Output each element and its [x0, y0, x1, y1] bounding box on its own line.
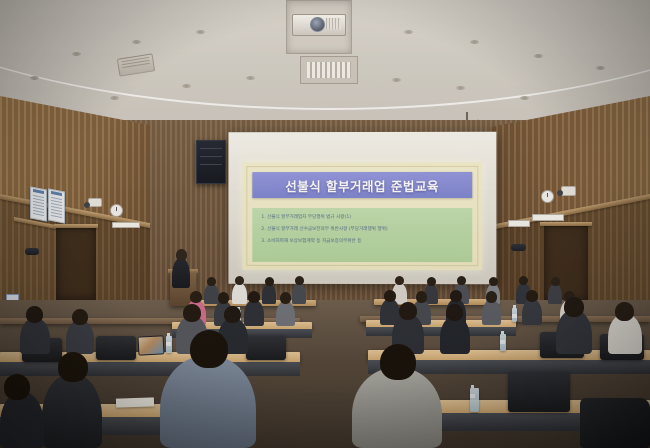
audience-head	[551, 277, 560, 286]
chair	[508, 372, 570, 412]
audience-head	[564, 297, 584, 317]
audience-head	[280, 292, 291, 304]
wall-vent-strip	[532, 214, 564, 221]
downlight-icon	[132, 40, 141, 44]
projection-screen: 선불식 할부거래업 준법교육 1. 선불식 할부거래업자 부당행위 법규 사항(…	[228, 132, 496, 284]
water-bottle	[166, 336, 172, 353]
audience-head	[399, 302, 417, 320]
downlight-icon	[534, 54, 543, 58]
audience-head	[248, 291, 260, 303]
audience-head	[4, 374, 30, 400]
downlight-icon	[30, 76, 39, 80]
audience-head	[190, 330, 228, 368]
audience-head	[526, 290, 538, 302]
left-doorway-recess	[56, 226, 96, 300]
audience-head	[190, 291, 202, 303]
audience-member	[232, 283, 247, 304]
slide-title: 선불식 할부거래업 준법교육	[285, 175, 439, 194]
left-wall-speaker	[196, 140, 226, 184]
downlight-icon	[392, 78, 401, 82]
lecture-hall-photo: 선불식 할부거래업 준법교육 1. 선불식 할부거래업자 부당행위 법규 사항(…	[0, 0, 650, 448]
audience-member	[482, 300, 501, 325]
wall-camera-icon	[561, 186, 576, 196]
bag-on-desk	[580, 398, 650, 448]
audience-head	[58, 352, 88, 382]
presenter-head	[176, 249, 187, 261]
slide-content-box: 1. 선불식 할부거래업자 부당행위 법규 사항(1) 2. 선불식 할부거래 …	[252, 208, 472, 262]
audience-head	[384, 290, 396, 302]
audience-head	[295, 276, 304, 285]
downlight-icon	[110, 96, 119, 100]
handout-papers	[116, 397, 154, 407]
audience-head	[235, 276, 244, 285]
desk-front-panel	[0, 362, 300, 376]
audience-member	[66, 320, 94, 354]
tablet-device[interactable]	[138, 335, 165, 355]
wall-mounted-ac-unit	[511, 244, 526, 251]
wall-vent-strip	[508, 220, 530, 227]
audience-member-foreground	[42, 374, 102, 448]
downlight-icon	[456, 86, 465, 90]
audience-head	[265, 277, 274, 286]
audience-member	[204, 284, 219, 304]
wall-clock-icon	[541, 190, 554, 203]
audience-member	[292, 283, 306, 304]
downlight-icon	[72, 52, 81, 56]
slide-bullet: 2. 선불식 할부거래 선수금보전의무 위반사항 (부당거래행위 행위)	[261, 227, 463, 233]
left-doorway-header	[54, 224, 98, 228]
audience-member	[440, 316, 470, 354]
audience-head	[183, 304, 201, 322]
projector-lens-icon	[310, 17, 325, 32]
audience-member	[262, 284, 276, 304]
audience-member	[522, 299, 542, 325]
downlight-icon	[470, 40, 479, 44]
presenter-body	[172, 258, 190, 288]
audience-head	[380, 344, 416, 380]
downlight-icon	[196, 30, 205, 34]
wall-notice-poster	[30, 186, 47, 221]
slide-title-bar: 선불식 할부거래업 준법교육	[252, 172, 472, 198]
projector-vent-grille	[326, 18, 341, 29]
audience-member-foreground	[352, 368, 442, 448]
chair	[96, 336, 136, 360]
slide-bullet: 3. 소비자피해 보상보험계약 등 지급보증의무위반 등	[261, 239, 463, 245]
wall-camera-icon	[88, 198, 102, 207]
downlight-icon	[404, 30, 413, 34]
chair	[246, 336, 286, 360]
audience-head	[427, 277, 436, 286]
downlight-icon	[182, 84, 191, 88]
water-bottle	[470, 388, 479, 412]
audience-head	[615, 302, 634, 321]
audience-head	[224, 306, 241, 323]
slide-bullet: 1. 선불식 할부거래업자 부당행위 법규 사항(1)	[261, 215, 463, 221]
audience-head	[218, 292, 229, 304]
audience-member	[20, 318, 50, 354]
right-doorway-header	[540, 222, 592, 226]
audience-head	[486, 291, 497, 303]
wall-clock-icon	[110, 204, 123, 217]
audience-head	[72, 309, 88, 325]
downlight-icon	[520, 96, 529, 100]
water-bottle	[512, 308, 517, 322]
presentation-slide: 선불식 할부거래업 준법교육 1. 선불식 할부거래업자 부당행위 법규 사항(…	[242, 162, 482, 270]
water-bottle	[500, 334, 506, 351]
audience-head	[457, 276, 466, 285]
audience-head	[489, 277, 498, 286]
audience-member	[276, 301, 295, 326]
audience-head	[395, 276, 404, 285]
audience-member-foreground	[0, 392, 44, 448]
downlight-icon	[246, 76, 255, 80]
audience-head	[446, 304, 463, 321]
audience-head	[519, 276, 528, 285]
audience-head	[416, 291, 427, 303]
wall-sign-strip	[112, 222, 140, 228]
audience-member	[548, 284, 562, 304]
wall-notice-poster	[48, 188, 65, 223]
wall-mounted-ac-unit	[25, 248, 39, 255]
audience-head	[450, 290, 462, 302]
audience-head	[26, 306, 43, 323]
downlight-icon	[596, 66, 605, 70]
audience-member-foreground	[160, 356, 256, 448]
ceiling-vent-panel	[300, 56, 358, 84]
audience-head	[207, 277, 216, 286]
audience-member	[244, 300, 264, 326]
